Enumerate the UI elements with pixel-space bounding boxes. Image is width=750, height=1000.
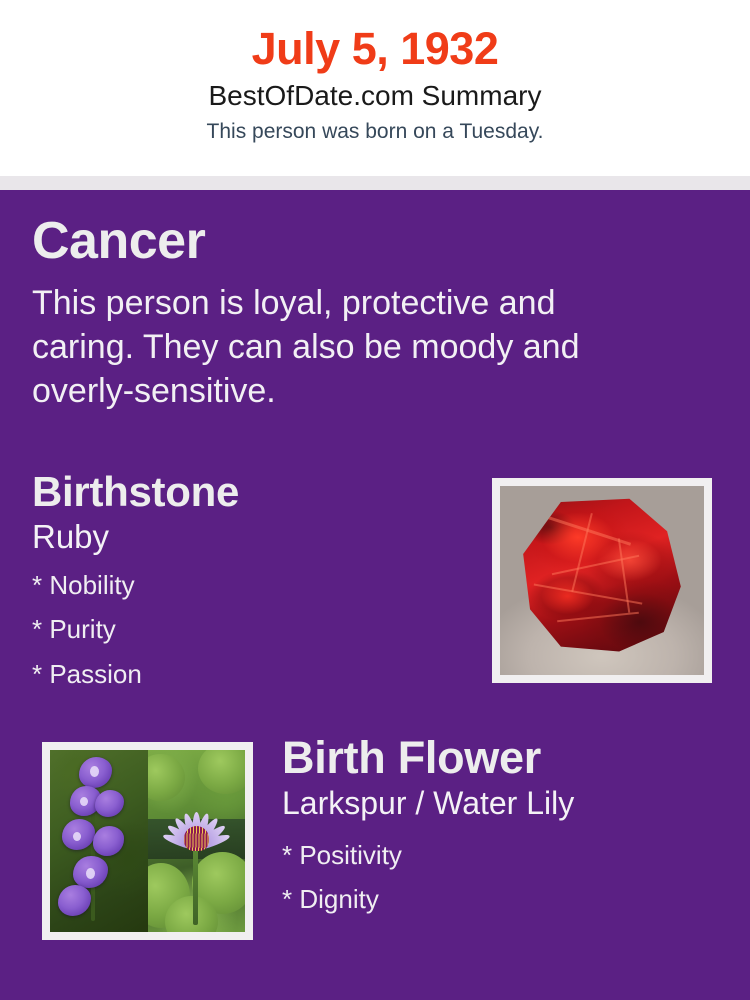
larkspur-bloom [95, 790, 124, 817]
zodiac-sign-name: Cancer [32, 215, 672, 267]
birthflower-trait-list: * Positivity * Dignity [282, 821, 732, 922]
birthstone-name: Ruby [32, 513, 472, 555]
list-item: * Passion [32, 652, 472, 697]
larkspur-photo-half [50, 750, 148, 932]
body-panel: Cancer This person is loyal, protective … [0, 190, 750, 1000]
list-item: * Positivity [282, 833, 732, 878]
zodiac-section: Cancer This person is loyal, protective … [32, 215, 672, 414]
water-lily-bloom [165, 783, 227, 856]
ruby-facet [551, 554, 639, 574]
list-item: * Purity [32, 607, 472, 652]
lily-center [184, 826, 209, 851]
header: July 5, 1932 BestOfDate.com Summary This… [0, 0, 750, 176]
larkspur-bloom [93, 826, 124, 855]
larkspur-center [90, 766, 99, 777]
lily-stem [193, 845, 198, 925]
list-item: * Dignity [282, 877, 732, 922]
birthstone-heading: Birthstone [32, 471, 472, 513]
ruby-crystal-shape [516, 495, 687, 658]
birthflower-photo-frame [42, 742, 253, 940]
birthflower-section: Birth Flower Larkspur / Water Lily * Pos… [282, 735, 732, 922]
site-name: BestOfDate.com Summary [0, 72, 750, 112]
flower-photo [50, 750, 245, 932]
birthstone-trait-list: * Nobility * Purity * Passion [32, 555, 472, 697]
birthstone-section: Birthstone Ruby * Nobility * Purity * Pa… [32, 471, 472, 697]
birthflower-name: Larkspur / Water Lily [282, 780, 732, 821]
page-title-date: July 5, 1932 [0, 0, 750, 72]
larkspur-bloom [58, 885, 91, 916]
ruby-facet [558, 611, 640, 622]
birthstone-photo-frame [492, 478, 712, 683]
zodiac-description: This person is loyal, protective and car… [32, 267, 647, 414]
waterlily-photo-half [148, 750, 246, 932]
larkspur-center [86, 868, 95, 879]
summary-card: July 5, 1932 BestOfDate.com Summary This… [0, 0, 750, 1000]
birthflower-heading: Birth Flower [282, 735, 732, 780]
weekday-subtitle: This person was born on a Tuesday. [0, 112, 750, 143]
header-divider [0, 176, 750, 190]
list-item: * Nobility [32, 563, 472, 608]
ruby-photo [500, 486, 704, 675]
